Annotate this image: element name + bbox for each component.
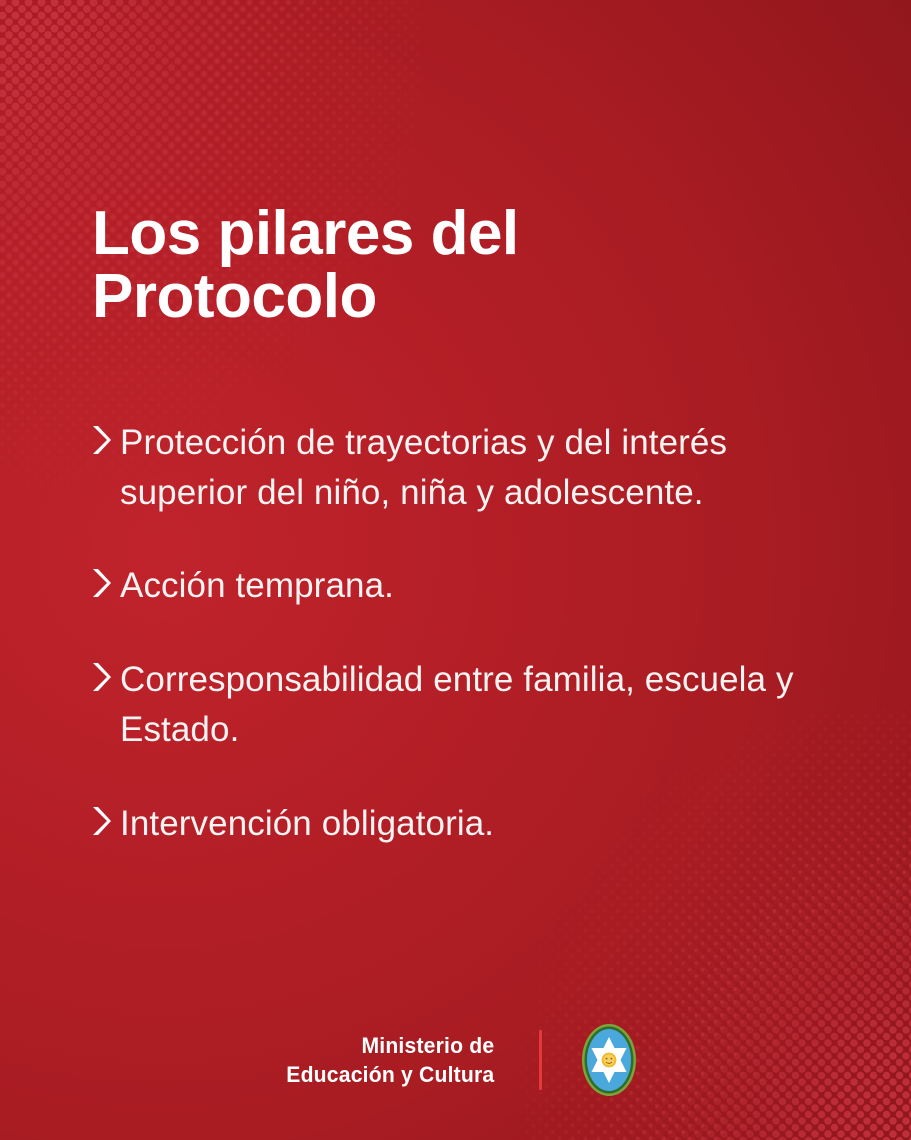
- halftone-dots-top-left: [0, 0, 330, 390]
- list-item-label: Protección de trayectorias y del interés…: [120, 418, 830, 517]
- ministry-name: Ministerio de Educación y Cultura: [287, 1031, 495, 1090]
- chevron-right-icon: [90, 424, 120, 456]
- list-item: Protección de trayectorias y del interés…: [90, 418, 830, 517]
- page-title: Los pilares del Protocolo: [92, 202, 792, 330]
- chevron-right-icon: [90, 661, 120, 693]
- list-item-label: Acción temprana.: [120, 561, 394, 611]
- list-item: Acción temprana.: [90, 561, 830, 611]
- footer-divider: [539, 1030, 542, 1090]
- pillars-list: Protección de trayectorias y del interés…: [90, 418, 830, 848]
- list-item-label: Intervención obligatoria.: [120, 799, 494, 849]
- chevron-right-icon: [90, 805, 120, 837]
- list-item-label: Corresponsabilidad entre familia, escuel…: [120, 655, 830, 754]
- chevron-right-icon: [90, 567, 120, 599]
- list-item: Corresponsabilidad entre familia, escuel…: [90, 655, 830, 754]
- list-item: Intervención obligatoria.: [90, 799, 830, 849]
- footer: Ministerio de Educación y Cultura: [0, 1018, 911, 1102]
- poster-canvas: Los pilares del Protocolo Protección de …: [0, 0, 911, 1140]
- provincial-coat-of-arms-emblem: [580, 1022, 638, 1098]
